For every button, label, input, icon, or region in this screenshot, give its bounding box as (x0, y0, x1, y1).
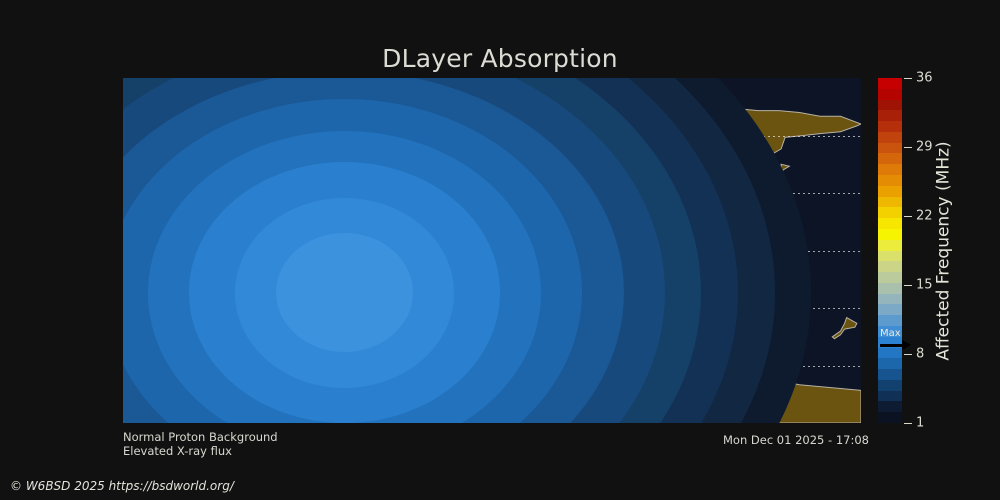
colorbar-segment (878, 121, 902, 132)
colorbar-segment (878, 197, 902, 208)
status-note-xray: Elevated X-ray flux (123, 444, 232, 458)
colorbar-tick (904, 285, 912, 286)
colorbar-segment (878, 229, 902, 240)
colorbar-axis-label: Affected Frequency (MHz) (930, 78, 958, 423)
colorbar-segment (878, 294, 902, 305)
colorbar-segment (878, 358, 902, 369)
colorbar-segment (878, 89, 902, 100)
absorption-contour-layer (123, 78, 861, 423)
copyright: © W6BSD 2025 https://bsdworld.org/ (10, 479, 234, 493)
colorbar-segment (878, 78, 902, 89)
colorbar-segment (878, 412, 902, 423)
colorbar-segment (878, 110, 902, 121)
max-arrow-shaft-icon (880, 344, 904, 347)
colorbar[interactable]: Max (878, 78, 902, 423)
dlayer-absorption-page: DLayer Absorption Max 1815222936 Affecte… (0, 0, 1000, 500)
colorbar-gradient (878, 78, 902, 423)
max-arrow-head-icon (902, 340, 911, 350)
colorbar-segment (878, 164, 902, 175)
world-map[interactable] (123, 78, 861, 423)
colorbar-tick (904, 354, 912, 355)
absorption-band (276, 233, 413, 353)
colorbar-segment (878, 218, 902, 229)
colorbar-segment (878, 315, 902, 326)
colorbar-segment (878, 304, 902, 315)
colorbar-segment (878, 175, 902, 186)
colorbar-segment (878, 100, 902, 111)
colorbar-segment (878, 186, 902, 197)
colorbar-segment (878, 380, 902, 391)
colorbar-segment (878, 251, 902, 262)
page-title: DLayer Absorption (0, 44, 1000, 73)
colorbar-segment (878, 401, 902, 412)
colorbar-segment (878, 283, 902, 294)
colorbar-axis-label-text: Affected Frequency (MHz) (934, 141, 954, 360)
colorbar-tick (904, 147, 912, 148)
status-note-proton: Normal Proton Background (123, 430, 278, 444)
colorbar-segment (878, 143, 902, 154)
colorbar-segment (878, 261, 902, 272)
colorbar-segment (878, 132, 902, 143)
colorbar-tick-label: 8 (916, 347, 924, 362)
colorbar-segment (878, 272, 902, 283)
colorbar-tick (904, 216, 912, 217)
colorbar-segment (878, 207, 902, 218)
colorbar-tick-label: 1 (916, 416, 924, 431)
timestamp: Mon Dec 01 2025 - 17:08 (723, 433, 869, 447)
max-marker-label: Max (880, 329, 901, 339)
colorbar-tick (904, 423, 912, 424)
max-marker: Max (878, 331, 912, 353)
colorbar-tick (904, 78, 912, 79)
colorbar-segment (878, 391, 902, 402)
colorbar-segment (878, 240, 902, 251)
colorbar-segment (878, 153, 902, 164)
colorbar-segment (878, 369, 902, 380)
